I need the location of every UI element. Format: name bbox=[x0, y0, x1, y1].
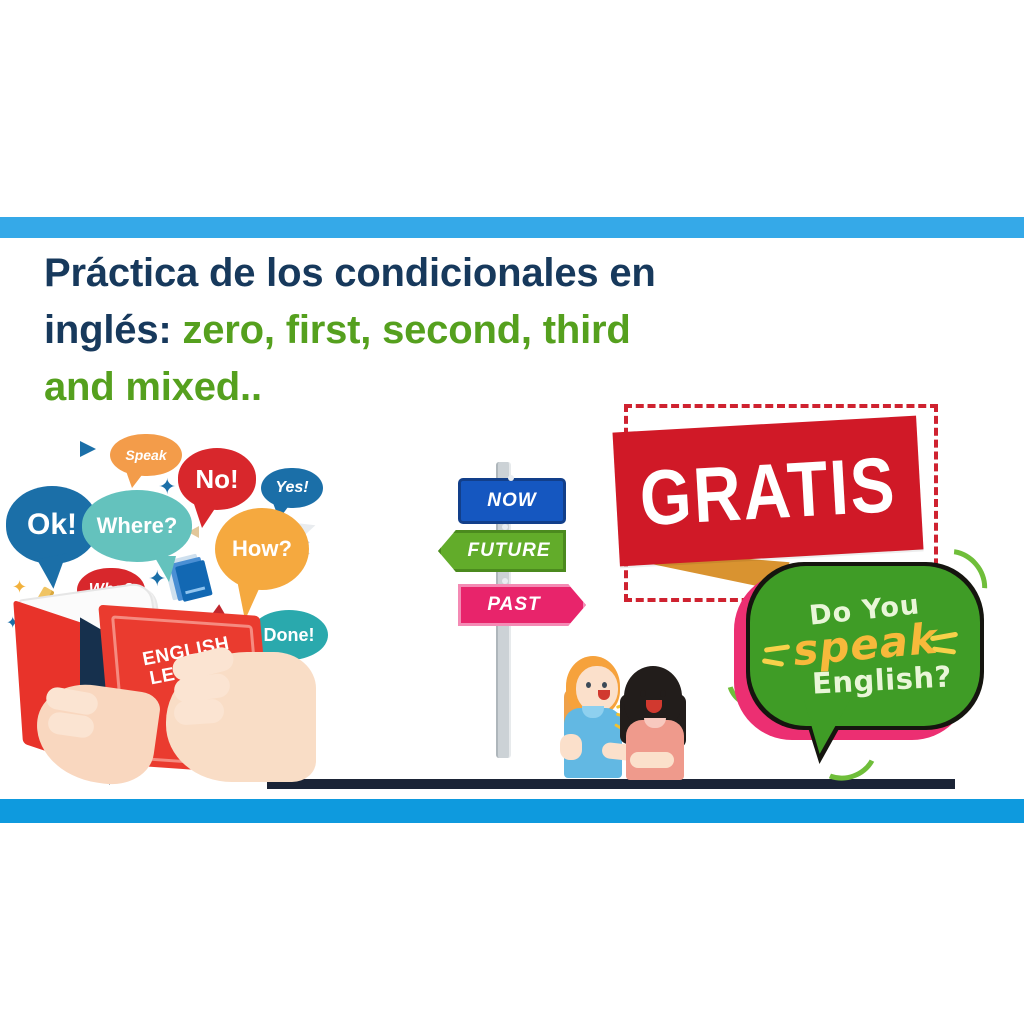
speech-bubble-how: How? bbox=[215, 508, 309, 590]
blue-triangle-icon bbox=[80, 441, 96, 457]
top-blue-band bbox=[0, 217, 1024, 238]
open-book-with-hands: ENGLISH LESSON bbox=[14, 590, 314, 785]
person-left-eye bbox=[586, 682, 591, 688]
sign-past: PAST bbox=[458, 584, 586, 626]
bubble-label: Where? bbox=[97, 513, 178, 539]
person-right-eye bbox=[640, 690, 646, 697]
gratis-label: GRATIS bbox=[637, 439, 898, 543]
person-left-arm bbox=[560, 734, 582, 760]
person-left-eye bbox=[602, 682, 607, 688]
speech-bubble-where: Where? bbox=[82, 490, 192, 562]
bubble-label: No! bbox=[195, 464, 238, 495]
title-line-1: Práctica de los condicionales en bbox=[44, 251, 656, 295]
bubble-label: How? bbox=[232, 536, 292, 562]
sign-screw-icon bbox=[502, 578, 508, 584]
bubble-label: Ok! bbox=[27, 508, 77, 542]
speech-bubble-speak: Speak bbox=[110, 434, 182, 476]
poster-canvas: Práctica de los condicionales en inglés:… bbox=[0, 0, 1024, 1024]
gratis-banner: GRATIS bbox=[612, 416, 923, 567]
bubble-text: Do You speak English? bbox=[750, 566, 980, 726]
bubble-label: Yes! bbox=[275, 479, 308, 497]
bubble-line-3: English? bbox=[811, 659, 952, 700]
title-line-3-green: and mixed.. bbox=[44, 365, 262, 409]
person-right-body bbox=[626, 720, 684, 780]
sign-now: NOW bbox=[458, 478, 566, 524]
sign-label: FUTURE bbox=[467, 540, 550, 562]
title-line-2-green: zero, first, second, third bbox=[172, 308, 631, 352]
sign-future: FUTURE bbox=[438, 530, 566, 572]
do-you-speak-english-bubble: Do You speak English? bbox=[734, 562, 984, 752]
sign-screw-icon bbox=[502, 524, 508, 530]
person-right-arm bbox=[630, 752, 674, 768]
sign-label: NOW bbox=[487, 490, 536, 512]
speech-bubble-yes: Yes! bbox=[261, 468, 323, 508]
page-title: Práctica de los condicionales en inglés:… bbox=[44, 245, 844, 415]
bottom-blue-band bbox=[0, 799, 1024, 823]
bubble-label: Speak bbox=[125, 447, 166, 463]
english-lesson-illustration: ✦ ✦ ✦ ✦ ✦ Ok! Speak Where? Who? No! bbox=[0, 428, 340, 780]
finger bbox=[173, 698, 225, 725]
title-line-2-dark: inglés: bbox=[44, 308, 172, 352]
sign-label: PAST bbox=[487, 594, 540, 616]
two-people-talking bbox=[552, 652, 692, 782]
speech-bubble-no: No! bbox=[178, 448, 256, 510]
person-right-eye bbox=[660, 690, 666, 697]
